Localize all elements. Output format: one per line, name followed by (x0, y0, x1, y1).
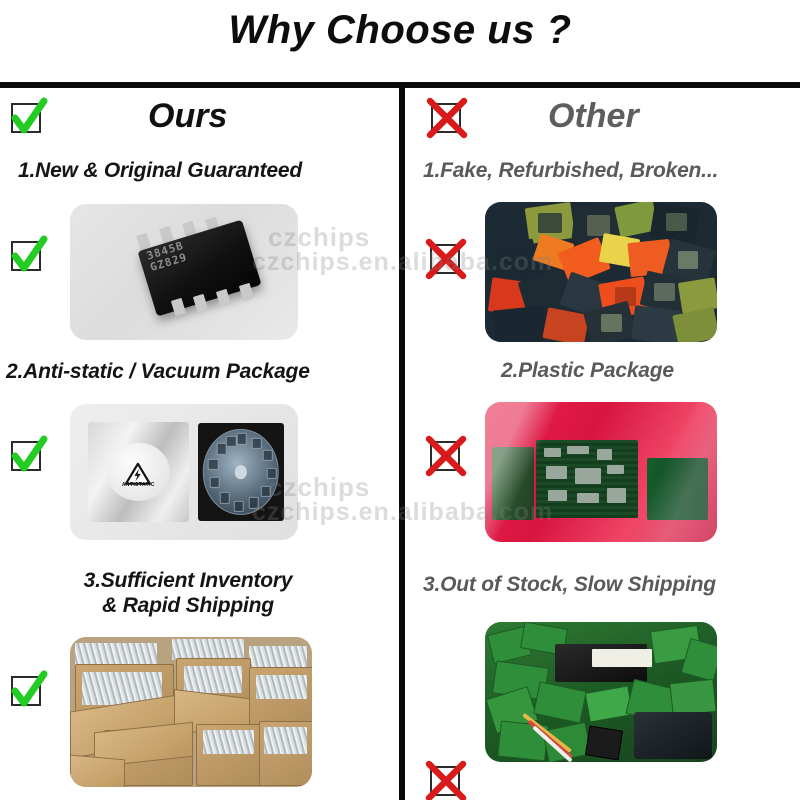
check-glyph (8, 672, 46, 710)
cross-glyph (427, 240, 465, 278)
cross-glyph (427, 762, 465, 800)
photo-ic-chip-art: 3845B GZ829 (70, 204, 298, 340)
antistatic-disc: ANTISTATIC (107, 443, 169, 501)
why-choose-us-infographic: Why Choose us ? Ours 1.New & Original Gu… (0, 0, 800, 800)
column-header-ours: Ours (0, 96, 399, 148)
feature-title-other-1: 1.Fake, Refurbished, Broken... (423, 158, 718, 183)
column-header-label-other: Other (548, 97, 639, 136)
photo-antistatic-vacuum-package: ANTISTATIC (70, 404, 298, 540)
check-icon (8, 237, 46, 275)
check-glyph (8, 237, 46, 275)
photo-plastic-package (485, 402, 717, 542)
feature-title-ours-2: 2.Anti-static / Vacuum Package (6, 359, 310, 384)
photo-ic-chip: 3845B GZ829 (70, 204, 298, 340)
antistatic-bag: ANTISTATIC (88, 422, 188, 523)
feature-title-ours-1: 1.New & Original Guaranteed (18, 158, 302, 183)
photo-inventory-art (70, 637, 312, 787)
check-glyph (8, 437, 46, 475)
cross-icon (427, 762, 465, 800)
photo-broken-chips-pile (485, 202, 717, 342)
component-reel (203, 429, 279, 515)
cross-icon (427, 437, 465, 475)
cross-glyph (427, 437, 465, 475)
photo-plastic-package-art (485, 402, 717, 542)
check-icon (8, 437, 46, 475)
feature-title-other-3: 3.Out of Stock, Slow Shipping (423, 572, 716, 597)
reel-tray (198, 423, 285, 521)
photo-green-scrap-boards (485, 622, 717, 762)
check-glyph (8, 99, 46, 137)
check-icon (8, 99, 46, 137)
column-header-label-ours: Ours (148, 97, 227, 136)
check-icon (8, 672, 46, 710)
photo-inventory-boxes (70, 637, 312, 787)
column-header-other: Other (405, 96, 800, 148)
photo-antistatic-art: ANTISTATIC (70, 404, 298, 540)
cross-icon (428, 99, 466, 137)
antistatic-label: ANTISTATIC (122, 481, 155, 487)
column-ours: Ours 1.New & Original Guaranteed (0, 82, 399, 800)
feature-title-ours-3: 3.Sufficient Inventory & Rapid Shipping (38, 568, 338, 618)
column-other: Other 1.Fake, Refurbished, Broken... (405, 82, 800, 800)
cross-icon (427, 240, 465, 278)
page-title: Why Choose us ? (0, 8, 800, 53)
cross-glyph (428, 99, 466, 137)
photo-green-scrap-art (485, 622, 717, 762)
photo-broken-chips-art (485, 202, 717, 342)
feature-title-other-2: 2.Plastic Package (501, 358, 674, 383)
module-label (592, 649, 652, 667)
